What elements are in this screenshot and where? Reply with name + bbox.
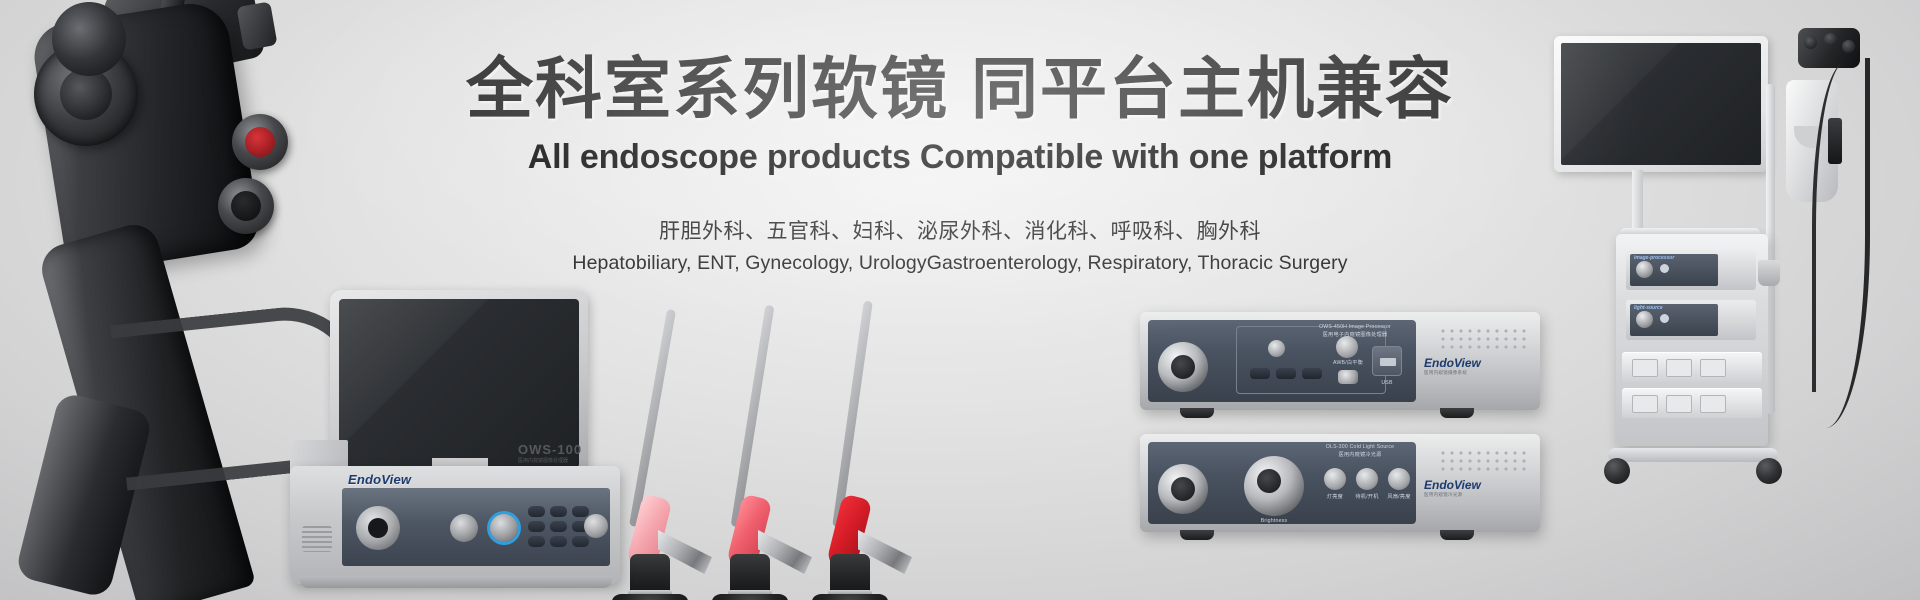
departments-chinese: 肝胆外科、五官科、妇科、泌尿外科、消化科、呼吸科、胸外科 xyxy=(0,215,1920,245)
processor-usb-port xyxy=(1372,346,1402,376)
scope-shaft-pink xyxy=(629,309,676,527)
processor-brand-label: EndoView 医用内窥镜摄像系统 xyxy=(1424,356,1481,376)
processor-btn-1 xyxy=(1250,368,1270,379)
workstation-vent xyxy=(302,526,332,552)
departments-english: Hepatobiliary, ENT, Gynecology, UrologyG… xyxy=(0,252,1920,275)
workstation-model-label: OWS-100 医用内窥镜图像处理器 xyxy=(518,442,582,464)
scope-lever-side xyxy=(236,1,277,50)
lightsource-foot-right xyxy=(1440,530,1474,540)
cart-wheel-right xyxy=(1756,458,1782,484)
workstation-keypad xyxy=(528,506,590,560)
lightsource-foot-left xyxy=(1180,530,1214,540)
lightsource-knob-label: Brightness xyxy=(1244,518,1304,526)
headline-chinese: 全科室系列软镜同平台主机兼容 xyxy=(0,54,1920,126)
headline-cn-part2: 同平台主机兼容 xyxy=(971,52,1454,127)
headline-cn-part1: 全科室系列软镜 xyxy=(466,52,949,127)
cart-shelf-unit-lightsource: light-source xyxy=(1626,300,1756,340)
processor-stack: AWB/白平衡 OWS-450H Image Processor 医用电子内窥镜… xyxy=(1140,312,1560,562)
lightsource-brightness-knob xyxy=(1244,456,1304,516)
workstation-brand-label: EndoView xyxy=(348,472,411,487)
image-processor-unit: AWB/白平衡 OWS-450H Image Processor 医用电子内窥镜… xyxy=(1140,312,1540,410)
lightsource-port-dial xyxy=(1158,464,1208,514)
workstation-port-2-highlighted xyxy=(490,514,518,542)
cart-wheel-left xyxy=(1604,458,1630,484)
workstation-model-sub: 医用内窥镜图像处理器 xyxy=(518,457,582,464)
processor-btn-2 xyxy=(1276,368,1296,379)
banner-text-block: 全科室系列软镜同平台主机兼容 All endoscope products Co… xyxy=(0,54,1920,275)
scope-shaft-coral xyxy=(731,305,775,528)
lightsource-brand-label: EndoView 医用内窥镜冷光源 xyxy=(1424,478,1481,498)
scope-base-coral xyxy=(712,594,788,600)
processor-foot-right xyxy=(1440,408,1474,418)
processor-vents xyxy=(1440,328,1526,352)
processor-foot-left xyxy=(1180,408,1214,418)
workstation-power-button xyxy=(584,514,608,538)
processor-awb-button xyxy=(1336,336,1358,358)
processor-lock-button xyxy=(1268,340,1285,357)
processor-enter-button xyxy=(1338,370,1358,384)
cart-accessory-drawer-2 xyxy=(1622,388,1762,418)
lightsource-button-3 xyxy=(1388,468,1410,490)
workstation-scope-port xyxy=(356,506,400,550)
cart-unit-lightsource-led xyxy=(1660,314,1669,323)
cart-unit-brand-2: light-source xyxy=(1634,305,1663,311)
cart-accessory-drawer-1 xyxy=(1622,352,1762,382)
processor-model-label: OWS-450H Image Processor 医用电子内窥镜图像处理器 xyxy=(1300,324,1410,339)
cart-unit-lightsource-dial xyxy=(1636,311,1653,328)
processor-btn-3 xyxy=(1302,368,1322,379)
scope-base-red xyxy=(812,594,888,600)
lightsource-model-label: OLS-300 Cold Light Source 医用内窥镜冷光源 xyxy=(1308,444,1412,459)
promo-banner: 全科室系列软镜同平台主机兼容 All endoscope products Co… xyxy=(0,0,1920,600)
lightsource-btn3-label: 风扇/亮度 xyxy=(1380,494,1418,502)
scope-base-pink xyxy=(612,594,688,600)
processor-awb-label: AWB/白平衡 xyxy=(1328,360,1368,368)
scope-shaft-red xyxy=(832,300,873,527)
lightsource-button-2 xyxy=(1356,468,1378,490)
processor-main-dial xyxy=(1158,342,1208,392)
workstation-port-1 xyxy=(450,514,478,542)
endoscopy-workstation-ows100: EndoView OWS-100 医用内窥镜图像处理器 xyxy=(290,290,620,590)
lightsource-button-1 xyxy=(1324,468,1346,490)
cart-base-plate xyxy=(1608,448,1778,462)
subheadline-english: All endoscope products Compatible with o… xyxy=(0,138,1920,177)
lightsource-vents xyxy=(1440,450,1526,474)
processor-usb-label: USB xyxy=(1372,380,1402,388)
cold-light-source-unit: Brightness 灯亮度 待机/开机 风扇/亮度 OLS-300 Cold … xyxy=(1140,434,1540,532)
workstation-foot xyxy=(300,576,612,588)
